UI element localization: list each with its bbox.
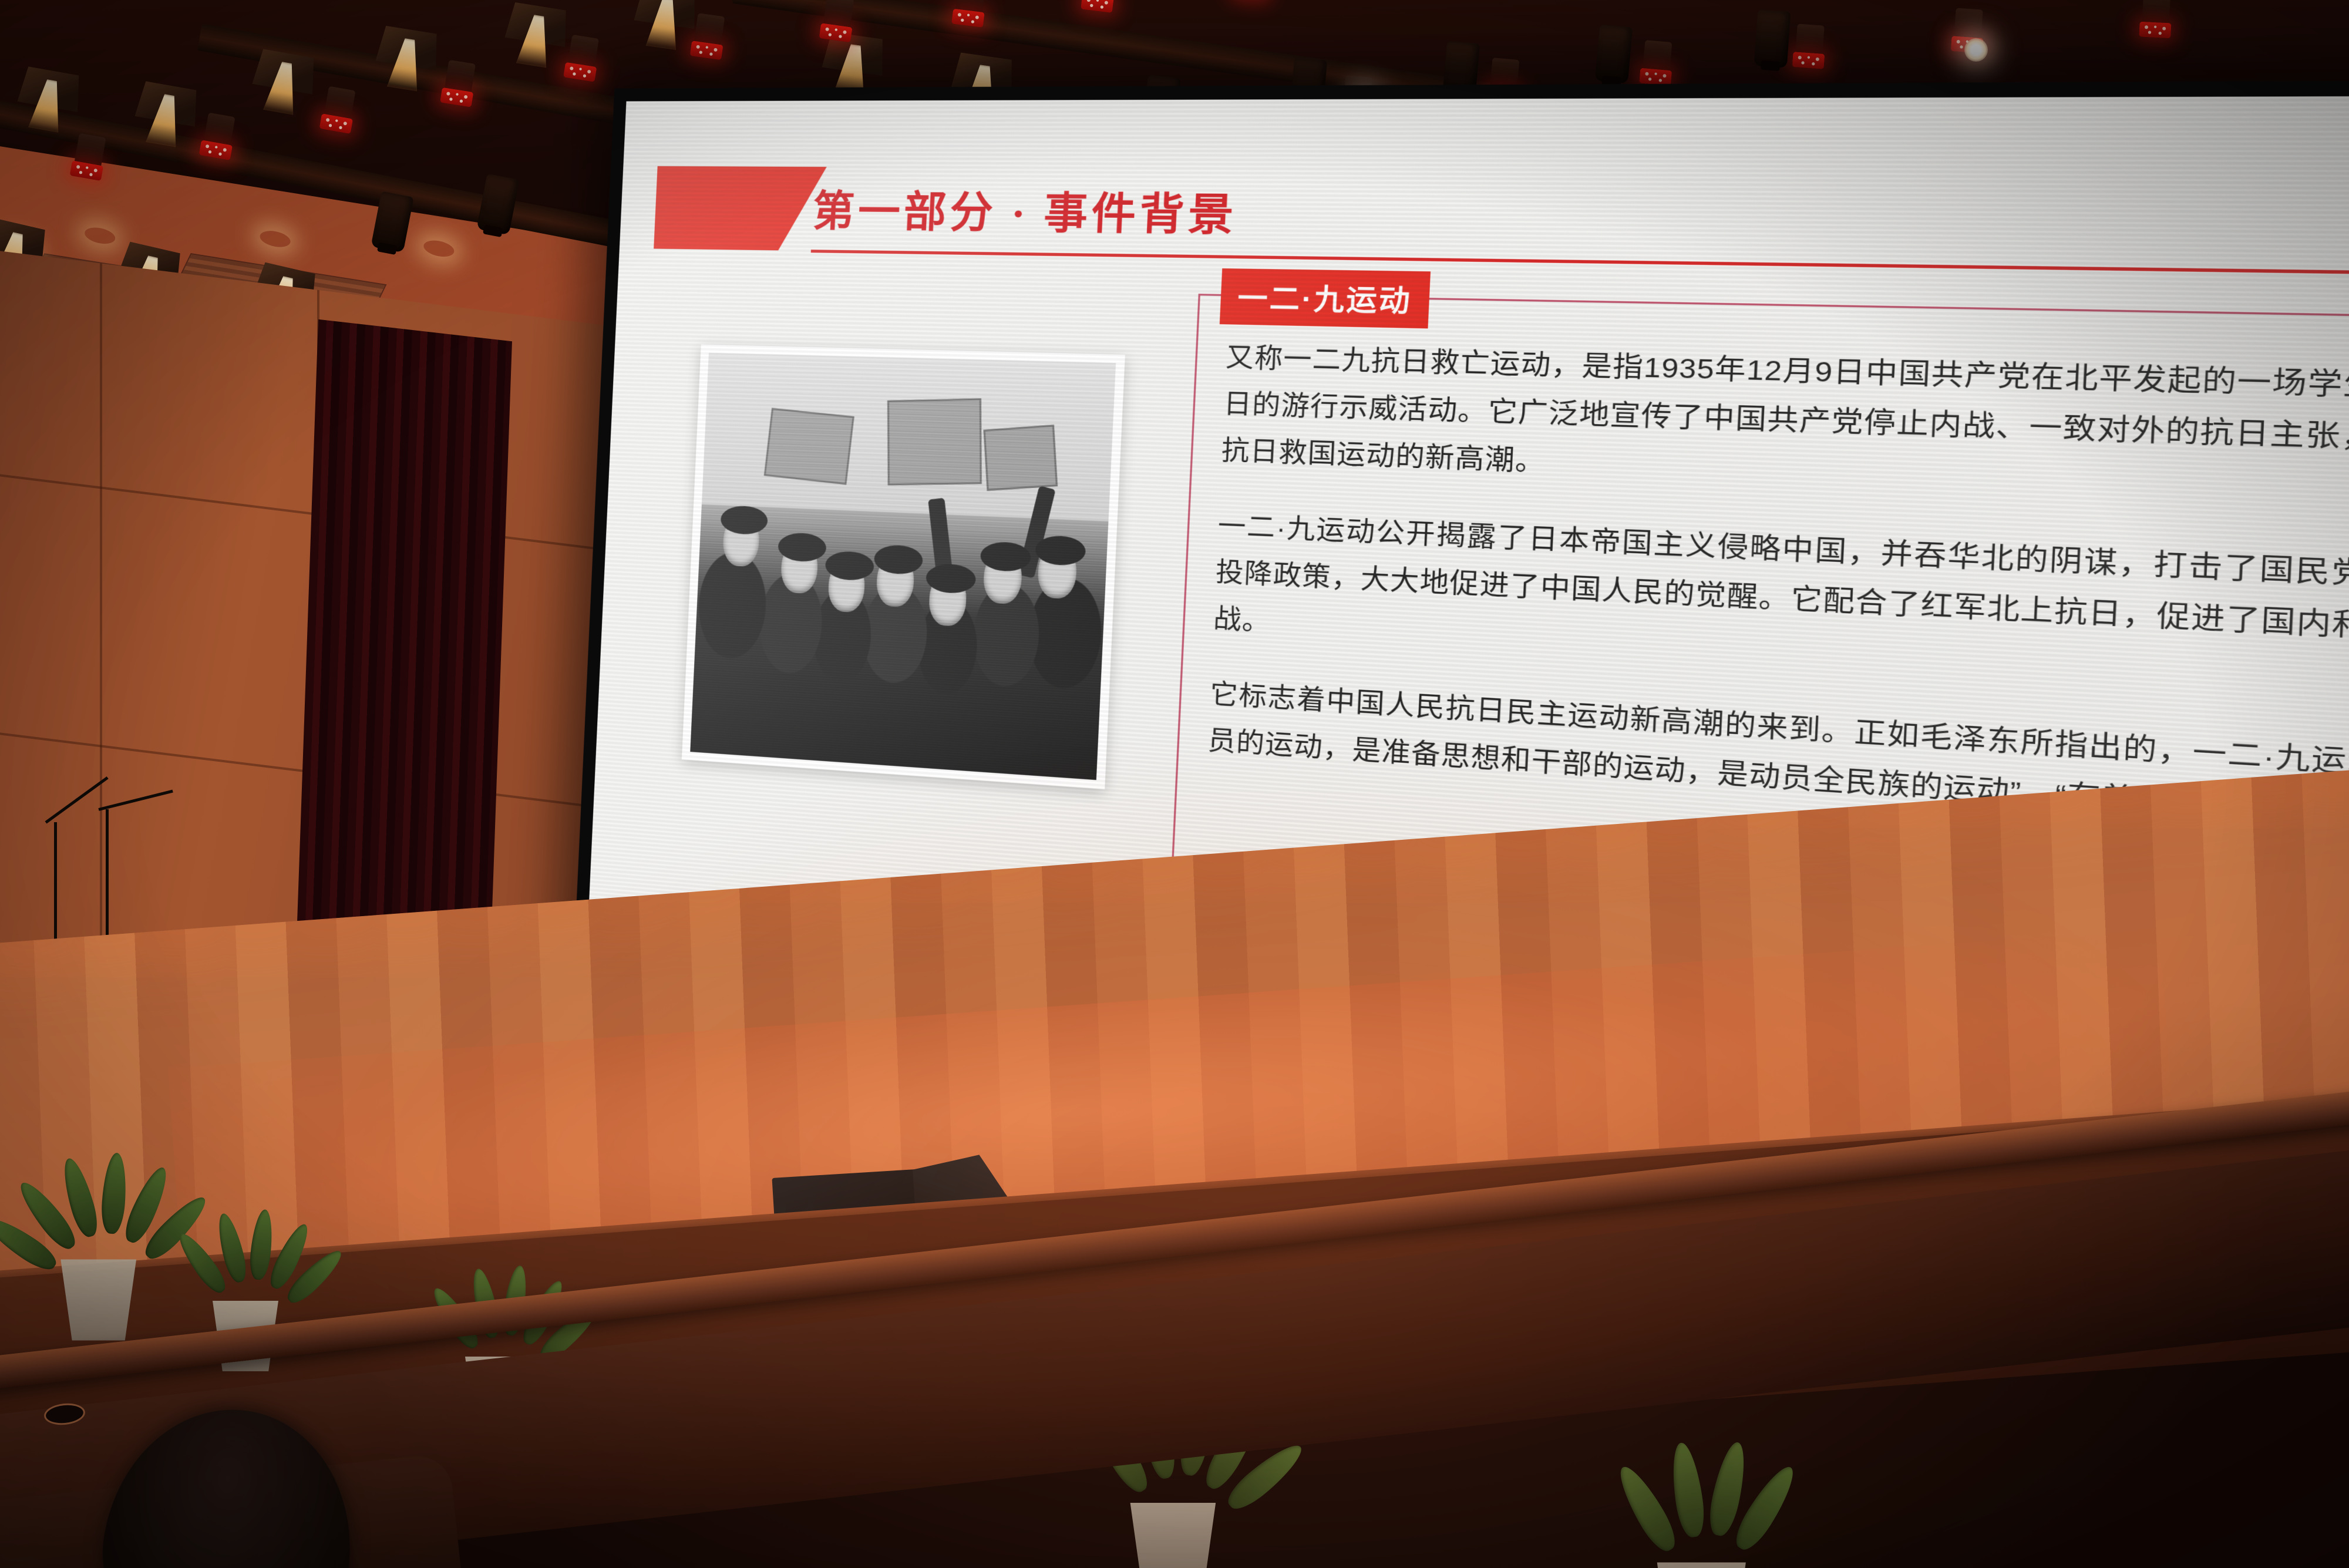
potted-plant	[1584, 1420, 1822, 1568]
led-par-light	[2136, 0, 2175, 42]
led-par-light	[560, 34, 604, 86]
ceiling-downlight	[85, 226, 116, 245]
led-par-light	[816, 0, 859, 46]
led-par-light	[437, 59, 480, 112]
auditorium-scene: 第一部分 · 事件背景	[0, 0, 2349, 1568]
led-par-light	[948, 0, 990, 31]
moving-head-light	[1595, 25, 1633, 84]
title-divider-rule	[811, 250, 2349, 278]
historical-photo	[690, 353, 1116, 780]
slide-title-row: 第一部分 · 事件背景	[620, 166, 2349, 277]
historical-photo-frame	[682, 344, 1125, 789]
led-par-light	[687, 12, 730, 64]
page-title: 第一部分 · 事件背景	[812, 177, 1239, 243]
fresnel-stage-light	[247, 48, 318, 121]
fresnel-stage-light	[130, 80, 201, 153]
ceiling-downlight	[423, 238, 455, 258]
fresnel-stage-light	[500, 2, 571, 74]
status-badge: 一二·九运动	[1220, 268, 1431, 328]
fresnel-stage-light	[12, 66, 83, 139]
led-par-light	[1789, 23, 1829, 73]
fresnel-stage-light	[371, 25, 442, 97]
led-par-light	[1637, 39, 1677, 89]
moving-head-light	[1754, 9, 1791, 68]
white-spot-light	[1964, 38, 1988, 62]
body-paragraph-1: 又称一二九抗日救亡运动，是指1935年12月9日中国共产党在北平发起的一场学生要…	[1220, 335, 2349, 523]
title-accent-block	[654, 166, 827, 251]
ceiling-downlight	[260, 229, 291, 249]
